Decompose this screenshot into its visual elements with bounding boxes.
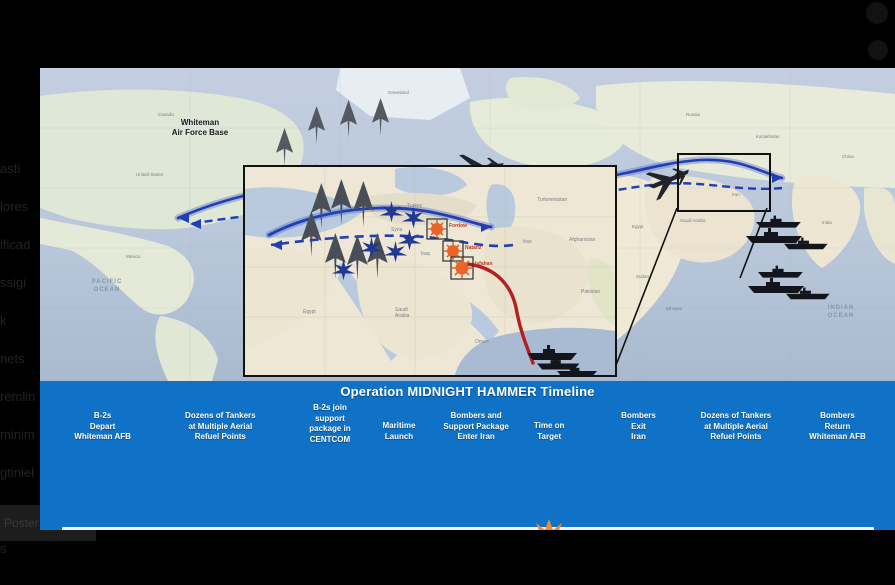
time-on-target-burst-icon <box>529 518 569 530</box>
inset-place-label-turkmenistan: Turkmenistan <box>537 197 567 203</box>
inset-place-label-syria: Syria <box>391 227 402 233</box>
inset-place-label-oman: Oman <box>475 339 489 345</box>
ocean-label-pacific: PACIFICOCEAN <box>76 278 138 294</box>
world-map: NORTHATLANTICOCEAN PACIFICOCEAN INDIANOC… <box>40 68 895 381</box>
timeline-title: Operation MIDNIGHT HAMMER Timeline <box>40 384 895 399</box>
timeline-event-label: Dozens of Tankersat Multiple AerialRefue… <box>681 411 791 443</box>
inset-place-label-iraq: Iraq <box>421 251 430 257</box>
inset-map: Turkey Syria Iraq Iran SaudiArabia Egypt… <box>243 165 617 377</box>
place-label-ethiopia: Ethiopia <box>666 306 682 311</box>
inset-zoom-rectangle <box>677 153 771 212</box>
place-label-mexico: Mexico <box>126 254 140 259</box>
timeline-event-label: B-2sDepartWhiteman AFB <box>48 411 158 443</box>
whiteman-afb-label: WhitemanAir Force Base <box>144 118 256 138</box>
place-label-india: India <box>822 220 832 225</box>
timeline-axis <box>62 527 874 530</box>
inset-place-label-iran: Iran <box>523 239 532 245</box>
inset-place-label-afghanistan: Afghanistan <box>569 237 595 243</box>
inset-place-label-saudi-arabia: SaudiArabia <box>395 307 409 319</box>
place-label-canada: Canada <box>158 112 174 117</box>
target-label-natanz: Natanz <box>465 245 481 251</box>
screenshot-stage: astiloresificadssigiknetsremlinminimgtin… <box>0 0 895 585</box>
place-label-kazakhstan: Kazakhstan <box>756 134 780 139</box>
overlay-control-dot-1[interactable] <box>866 2 888 24</box>
timeline-event-label: BombersExitIran <box>584 411 694 443</box>
place-label-united-states: United States <box>136 172 163 177</box>
timeline-event-label: BombersReturnWhiteman AFB <box>782 411 892 443</box>
place-label-sudan: Sudan <box>636 274 649 279</box>
timeline-event-label: Dozens of Tankersat Multiple AerialRefue… <box>165 411 275 443</box>
inset-place-label-egypt: Egypt <box>303 309 316 315</box>
place-label-egypt: Egypt <box>632 224 644 229</box>
place-label-saudi-arabia: Saudi Arabia <box>680 218 706 223</box>
place-label-china: China <box>842 154 854 159</box>
operation-graphic-card: NORTHATLANTICOCEAN PACIFICOCEAN INDIANOC… <box>40 68 895 530</box>
inset-place-label-turkey: Turkey <box>407 203 422 209</box>
target-label-isfahan: Isfahan <box>475 261 493 267</box>
timeline-panel: Operation MIDNIGHT HAMMER Timeline B-2sD… <box>40 381 895 530</box>
inset-place-label-pakistan: Pakistan <box>581 289 600 295</box>
place-label-greenland: Greenland <box>388 90 409 95</box>
ocean-label-indian: INDIANOCEAN <box>810 304 872 320</box>
overlay-control-dot-2[interactable] <box>868 40 888 60</box>
place-label-russia: Russia <box>686 112 700 117</box>
target-label-fordow: Fordow <box>449 223 467 229</box>
